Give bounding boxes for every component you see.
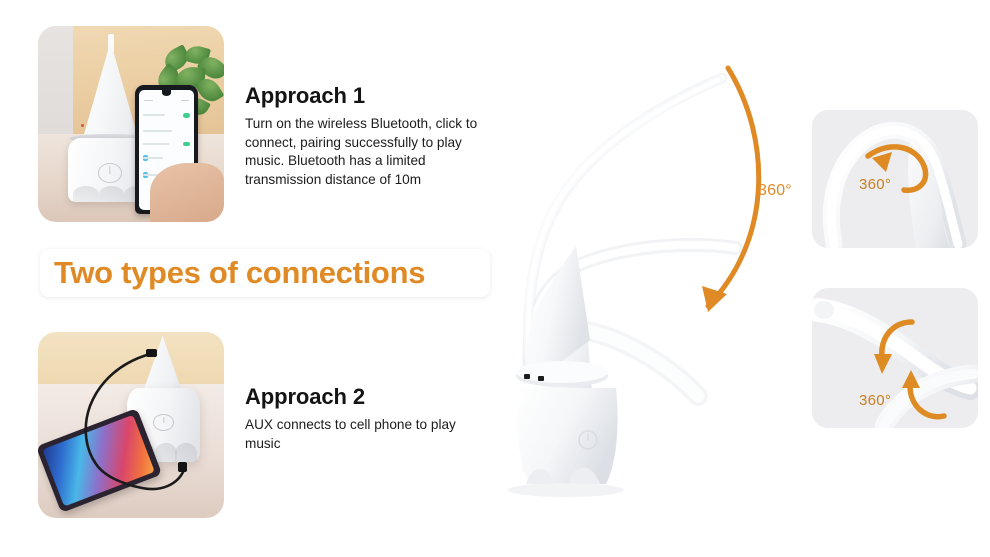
connections-banner-text: Two types of connections [54, 255, 425, 291]
approach-2-body: AUX connects to cell phone to play music [245, 416, 495, 453]
inset-top-label: 360° [859, 176, 891, 193]
hero-port-usb [538, 376, 544, 381]
approach-1-text-block: Approach 1 Turn on the wireless Bluetoot… [245, 84, 495, 189]
hero-rotation-label: 360° [758, 182, 792, 200]
inset-neck-twist [812, 288, 978, 428]
hero-rotation-arc [708, 68, 759, 306]
hero-lamp-illustration [470, 40, 800, 520]
photo1-indicator-dot [81, 124, 84, 127]
approach-2-text-block: Approach 2 AUX connects to cell phone to… [245, 385, 495, 453]
inset-bottom-arrowhead-down [874, 354, 892, 374]
photo1-hand [150, 163, 224, 222]
hero-lamp-base [517, 388, 618, 484]
photo1-power-button-icon [98, 163, 122, 183]
connections-banner: Two types of connections [40, 249, 490, 297]
inset-bottom-label: 360° [859, 392, 891, 409]
approach-1-title: Approach 1 [245, 84, 495, 108]
infographic-canvas: Approach 1 Turn on the wireless Bluetoot… [0, 0, 990, 557]
photo1-wall-left [38, 26, 73, 148]
photo-bluetooth-pairing [38, 26, 224, 222]
approach-2-title: Approach 2 [245, 385, 495, 409]
inset-top-arrowhead [872, 152, 892, 172]
inset-neck-bend [812, 110, 978, 248]
photo2-wall [38, 332, 224, 388]
photo2-power-button-icon [153, 414, 174, 431]
hero-port-aux [524, 374, 530, 379]
photo-aux-connection [38, 332, 224, 518]
approach-1-body: Turn on the wireless Bluetooth, click to… [245, 115, 495, 189]
